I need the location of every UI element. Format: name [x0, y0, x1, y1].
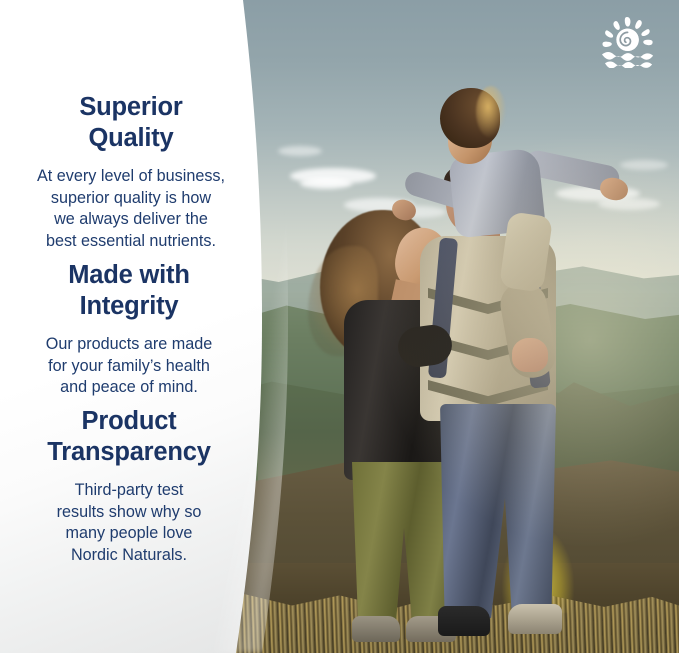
- body-product-transparency: Third-party test results show why so man…: [14, 480, 244, 566]
- marketing-banner: Superior Quality At every level of busin…: [0, 0, 679, 653]
- body-line: and peace of mind.: [60, 378, 198, 396]
- woman-shoe-left: [352, 616, 400, 642]
- body-line: many people love: [66, 524, 193, 542]
- heading-line: Superior: [79, 93, 182, 121]
- child-hair-highlight: [476, 86, 506, 138]
- cloud: [620, 160, 668, 170]
- cloud: [598, 198, 660, 210]
- body-line: we always deliver the: [54, 210, 208, 228]
- panel-content: Superior Quality At every level of busin…: [0, 0, 262, 653]
- heading-line: Made with: [68, 261, 189, 289]
- block-made-with-integrity: Made with Integrity Our products are mad…: [14, 260, 244, 399]
- heading-line: Product: [82, 407, 177, 435]
- man-hand-right: [512, 338, 548, 372]
- sun-waves-logo-icon: [599, 16, 657, 68]
- body-line: At every level of business,: [37, 167, 225, 185]
- block-product-transparency: Product Transparency Third-party test re…: [14, 406, 244, 566]
- heading-made-with-integrity: Made with Integrity: [14, 260, 244, 322]
- body-superior-quality: At every level of business, superior qua…: [16, 166, 246, 252]
- heading-superior-quality: Superior Quality: [16, 92, 246, 154]
- cloud: [300, 178, 352, 189]
- body-line: results show why so: [57, 503, 202, 521]
- body-line: superior quality is how: [51, 189, 211, 207]
- man-shoe-right: [508, 604, 562, 634]
- man-shoe-left: [438, 606, 490, 636]
- heading-line: Transparency: [47, 438, 210, 466]
- body-line: Third-party test: [75, 481, 184, 499]
- heading-line: Integrity: [80, 292, 179, 320]
- body-line: best essential nutrients.: [46, 232, 216, 250]
- cloud: [278, 146, 322, 156]
- body-line: Nordic Naturals.: [71, 546, 187, 564]
- heading-line: Quality: [88, 124, 173, 152]
- body-made-with-integrity: Our products are made for your family’s …: [14, 334, 244, 399]
- block-superior-quality: Superior Quality At every level of busin…: [16, 92, 246, 252]
- body-line: for your family’s health: [48, 357, 210, 375]
- body-line: Our products are made: [46, 335, 212, 353]
- heading-product-transparency: Product Transparency: [14, 406, 244, 468]
